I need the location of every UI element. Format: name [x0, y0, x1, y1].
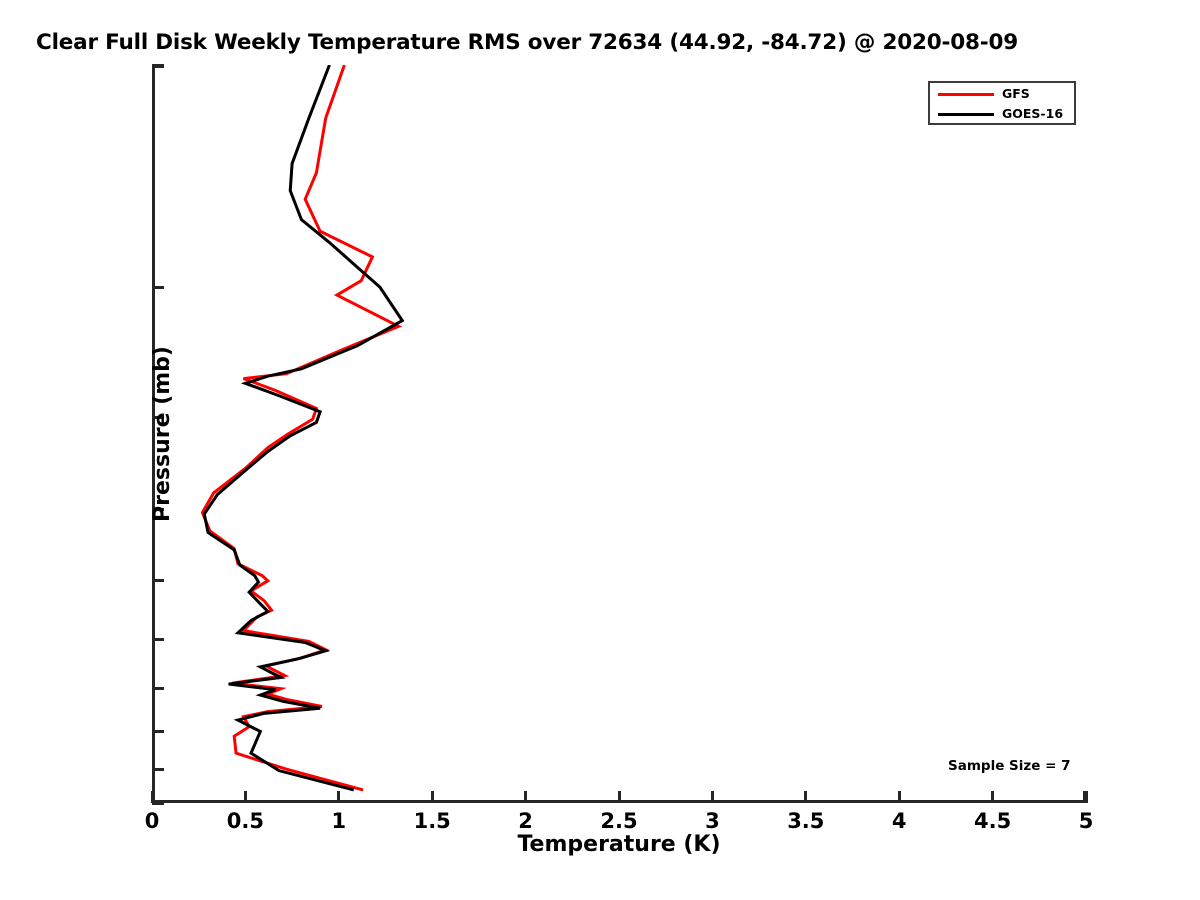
x-tick-label: 3.5 [787, 809, 824, 833]
sample-size-annotation: Sample Size = 7 [948, 758, 1071, 774]
x-axis-title: Temperature (K) [152, 832, 1086, 857]
data-curves [152, 65, 1086, 803]
plot-area: 102200300400500600700800900103 00.511.52… [152, 65, 1086, 803]
page-title: Clear Full Disk Weekly Temperature RMS o… [36, 30, 1018, 55]
x-tick-label: 2.5 [600, 809, 637, 833]
x-tick-label: 4 [892, 809, 907, 833]
x-tick-label: 5 [1079, 809, 1094, 833]
chart-figure: Clear Full Disk Weekly Temperature RMS o… [0, 0, 1200, 900]
legend-entry: GFS [930, 84, 1074, 104]
legend-entry: GOES-16 [930, 104, 1074, 124]
series-line-gfs [202, 65, 398, 790]
legend: GFSGOES-16 [928, 81, 1076, 125]
legend-label: GFS [1002, 86, 1030, 101]
series-line-goes-16 [204, 65, 402, 790]
x-tick-label: 3 [705, 809, 720, 833]
x-tick-label: 1 [331, 809, 346, 833]
y-axis-title: Pressure (mb) [150, 284, 175, 584]
x-tick-label: 0 [145, 809, 160, 833]
legend-label: GOES-16 [1002, 106, 1063, 121]
legend-color-swatch [938, 113, 994, 116]
x-tick-label: 1.5 [414, 809, 451, 833]
x-tick-label: 4.5 [974, 809, 1011, 833]
x-tick-label: 0.5 [227, 809, 264, 833]
legend-color-swatch [938, 93, 994, 96]
x-tick-label: 2 [518, 809, 533, 833]
